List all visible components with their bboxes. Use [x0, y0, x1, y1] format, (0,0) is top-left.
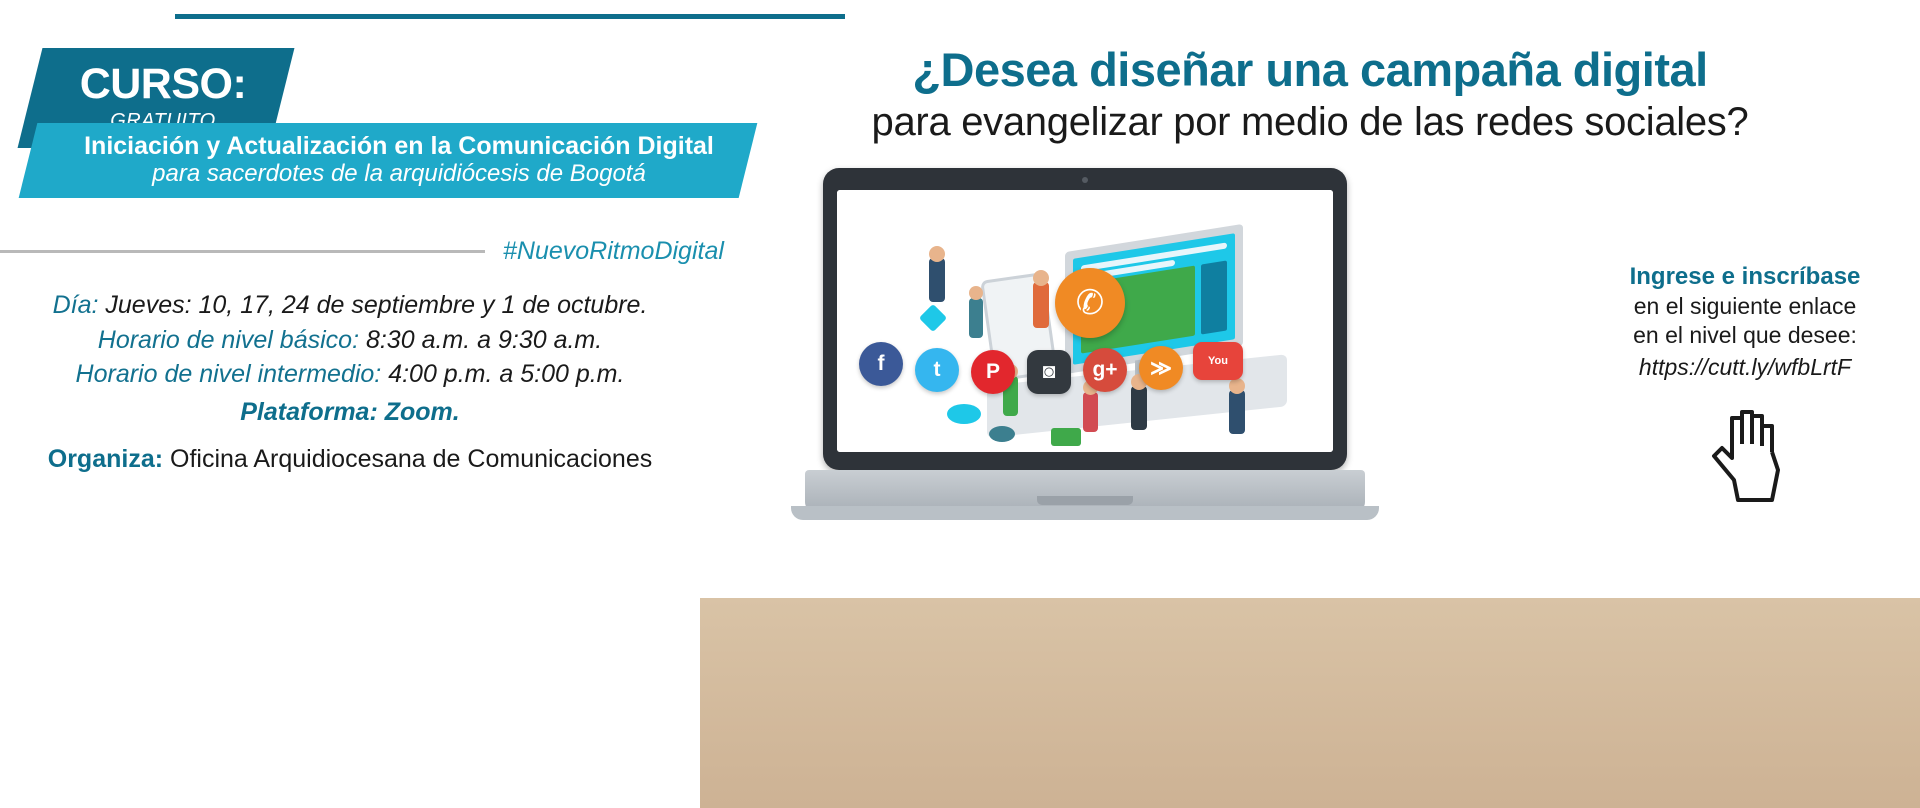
laptop-trackpad	[1037, 496, 1133, 505]
pinterest-icon: P	[971, 350, 1015, 394]
schedule-block: Día: Jueves: 10, 17, 24 de septiembre y …	[0, 288, 700, 431]
course-title-secondary: para sacerdotes de la arquidiócesis de B…	[152, 160, 646, 189]
screen-scene: ✆	[837, 190, 1333, 452]
laptop-screen: ✆	[837, 190, 1333, 452]
schedule-row-intermediate: Horario de nivel intermedio: 4:00 p.m. a…	[0, 357, 700, 392]
schedule-value-basic: 8:30 a.m. a 9:30 a.m.	[359, 326, 602, 354]
person-body-4	[1131, 386, 1147, 430]
course-badge-title: CURSO:	[80, 63, 247, 106]
hashtag-divider-rule	[0, 250, 485, 253]
person-body-1	[929, 258, 945, 302]
instagram-icon: ◙	[1027, 350, 1071, 394]
hashtag-row: #NuevoRitmoDigital	[0, 236, 800, 266]
monitor-side-block	[1201, 260, 1227, 334]
desk-surface	[700, 598, 1920, 808]
headline-primary: ¿Desea diseñar una campaña digital	[700, 45, 1920, 96]
registration-title: Ingrese e inscríbase	[1580, 262, 1910, 292]
youtube-icon: You	[1193, 342, 1243, 380]
registration-line-1: en el siguiente enlace	[1580, 292, 1910, 321]
person-body-6	[1229, 390, 1245, 434]
registration-block: Ingrese e inscríbase en el siguiente enl…	[1580, 262, 1910, 385]
schedule-label-intermediate: Horario de nivel intermedio:	[76, 360, 382, 388]
person-head-2	[969, 286, 983, 300]
organizer-label: Organiza:	[48, 445, 163, 473]
organizer-row: Organiza: Oficina Arquidiocesana de Comu…	[0, 445, 700, 474]
facebook-icon: f	[859, 342, 903, 386]
person-head-3	[1033, 270, 1049, 286]
rect-accent-1	[1051, 428, 1081, 446]
rss-icon: ≫	[1139, 346, 1183, 390]
twitter-icon: t	[915, 348, 959, 392]
schedule-value-day: Jueves: 10, 17, 24 de septiembre y 1 de …	[98, 291, 647, 319]
schedule-value-intermediate: 4:00 p.m. a 5:00 p.m.	[381, 360, 624, 388]
course-title-banner: Iniciación y Actualización en la Comunic…	[19, 123, 758, 198]
person-head-1	[929, 246, 945, 262]
person-body-3	[1033, 282, 1049, 328]
laptop-illustration: ✆	[805, 168, 1365, 640]
schedule-label-basic: Horario de nivel básico:	[98, 326, 359, 354]
right-promo-panel: ¿Desea diseñar una campaña digital para …	[700, 0, 1920, 640]
pointing-hand-icon	[1710, 400, 1800, 510]
promo-banner: CURSO: GRATUITO Iniciación y Actualizaci…	[0, 0, 1920, 640]
headline-block: ¿Desea diseñar una campaña digital para …	[700, 45, 1920, 145]
diamond-accent	[919, 304, 947, 332]
registration-url[interactable]: https://cutt.ly/wfbLrtF	[1580, 350, 1910, 385]
schedule-row-day: Día: Jueves: 10, 17, 24 de septiembre y …	[0, 288, 700, 323]
registration-line-2: en el nivel que desee:	[1580, 321, 1910, 350]
headline-secondary: para evangelizar por medio de las redes …	[700, 99, 1920, 145]
laptop-base-lip	[791, 506, 1379, 520]
schedule-row-basic: Horario de nivel básico: 8:30 a.m. a 9:3…	[0, 323, 700, 358]
google-plus-icon: g+	[1083, 348, 1127, 392]
platform-label: Plataforma: Zoom.	[0, 394, 700, 432]
chat-bubble-icon: ✆	[1055, 268, 1125, 338]
course-title-primary: Iniciación y Actualización en la Comunic…	[84, 132, 714, 161]
webcam-icon	[1082, 177, 1088, 183]
person-body-2	[969, 298, 983, 338]
ellipse-accent-2	[989, 426, 1015, 442]
ellipse-accent-1	[947, 404, 981, 424]
hashtag-label: #NuevoRitmoDigital	[503, 237, 724, 266]
laptop-lid: ✆	[823, 168, 1347, 470]
organizer-value: Oficina Arquidiocesana de Comunicaciones	[163, 445, 652, 473]
schedule-label-day: Día:	[53, 291, 99, 319]
person-body-5	[1083, 392, 1098, 432]
person-head-6	[1229, 378, 1245, 394]
